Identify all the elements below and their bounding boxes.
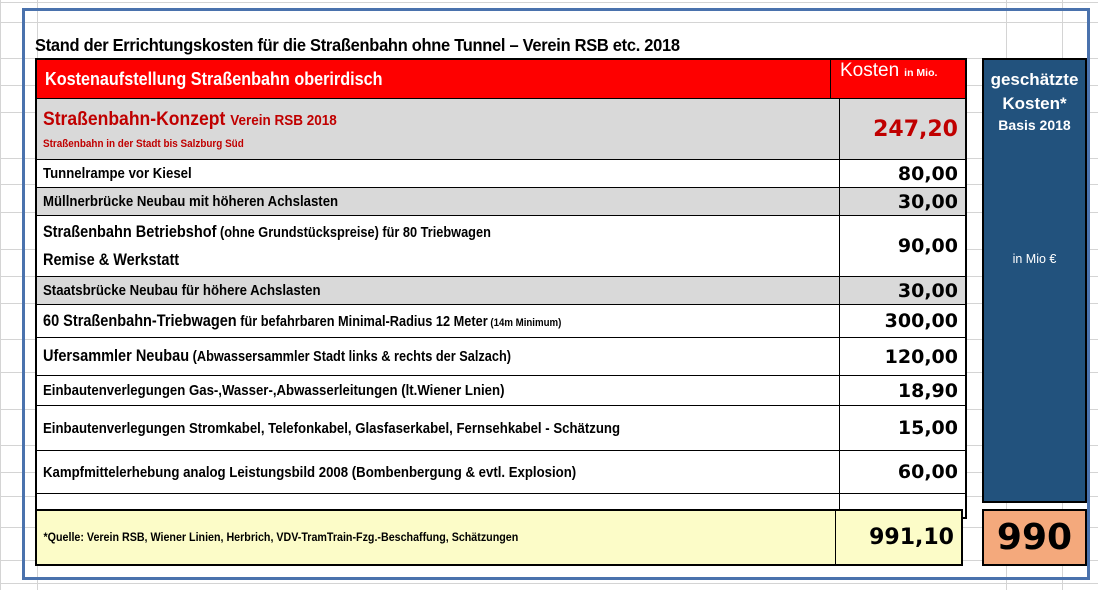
grand-total-value: 991,10: [835, 511, 961, 564]
row-label: Staatsbrücke Neubau für höhere Achslaste…: [43, 282, 738, 299]
row-label: Müllnerbrücke Neubau mit höheren Achslas…: [43, 193, 738, 210]
row-label-cell: Straßenbahn Betriebshof (ohne Grundstück…: [37, 216, 839, 276]
row-label-cell: Tunnelrampe vor Kiesel: [37, 160, 839, 187]
row-label-primary: Einbautenverlegungen Stromkabel, Telefon…: [43, 420, 620, 437]
table-row: Müllnerbrücke Neubau mit höheren Achslas…: [37, 188, 965, 216]
row-value: 90,00: [839, 216, 965, 276]
row-label-note: (Abwassersammler Stadt links & rechts de…: [189, 349, 511, 365]
row-label-primary: Müllnerbrücke Neubau mit höheren Achslas…: [43, 193, 338, 210]
table-row: Kampfmittelerhebung analog Leistungsbild…: [37, 451, 965, 494]
table-row: 60 Straßenbahn-Triebwagen für befahrbare…: [37, 305, 965, 338]
concept-title-main: Straßenbahn-Konzept: [43, 108, 225, 130]
row-value: 30,00: [839, 277, 965, 304]
window-frame-left: [22, 8, 25, 580]
row-label-cell: Müllnerbrücke Neubau mit höheren Achslas…: [37, 188, 839, 215]
row-label: Ufersammler Neubau (Abwassersammler Stad…: [43, 347, 738, 366]
row-label: Einbautenverlegungen Stromkabel, Telefon…: [43, 420, 738, 437]
row-label-primary: Kampfmittelerhebung analog Leistungsbild…: [43, 464, 576, 481]
row-label: Kampfmittelerhebung analog Leistungsbild…: [43, 464, 738, 481]
table-row: Ufersammler Neubau (Abwassersammler Stad…: [37, 338, 965, 376]
row-value: 60,00: [839, 451, 965, 493]
row-label-note: (ohne Grundstückspreise) für 80 Triebwag…: [216, 225, 490, 241]
row-label-primary: Einbautenverlegungen Gas-,Wasser-,Abwass…: [43, 382, 504, 399]
row-label-cell: Einbautenverlegungen Stromkabel, Telefon…: [37, 406, 839, 450]
row-value: 30,00: [839, 188, 965, 215]
header-label-cell: Kostenaufstellung Straßenbahn oberirdisc…: [37, 60, 830, 98]
concept-label-cell: Straßenbahn-Konzept Verein RSB 2018 Stra…: [37, 99, 839, 159]
window-frame-right: [1087, 8, 1090, 580]
table-row: Einbautenverlegungen Gas-,Wasser-,Abwass…: [37, 376, 965, 406]
row-label: Tunnelrampe vor Kiesel: [43, 165, 738, 182]
row-value: 80,00: [839, 160, 965, 187]
table-row-concept: Straßenbahn-Konzept Verein RSB 2018 Stra…: [37, 99, 965, 160]
row-label: Straßenbahn Betriebshof (ohne Grundstück…: [43, 223, 738, 242]
cost-sheet: Stand der Errichtungskosten für die Stra…: [27, 12, 1087, 577]
window-frame-top: [22, 8, 1090, 11]
table-row: Staatsbrücke Neubau für höhere Achslaste…: [37, 277, 965, 305]
row-value: 300,00: [839, 305, 965, 337]
row-label-primary: Staatsbrücke Neubau für höhere Achslaste…: [43, 282, 321, 299]
table-row: Tunnelrampe vor Kiesel80,00: [37, 160, 965, 188]
concept-subtitle: Straßenbahn in der Stadt bis Salzburg Sü…: [43, 138, 754, 150]
row-label-note2: (14m Minimum): [488, 317, 562, 329]
table-header-row: Kostenaufstellung Straßenbahn oberirdisc…: [37, 60, 965, 99]
estimate-panel-line3: Basis 2018: [984, 117, 1085, 133]
row-label-second-line: Remise & Werkstatt: [43, 251, 738, 270]
estimate-panel-unit: in Mio €: [984, 252, 1085, 266]
header-cost-main: Kosten: [840, 60, 899, 82]
row-value: 15,00: [839, 406, 965, 450]
concept-value: 247,20: [839, 99, 965, 159]
row-label-cell: Einbautenverlegungen Gas-,Wasser-,Abwass…: [37, 376, 839, 405]
row-label-note: für befahrbaren Minimal-Radius 12 Meter: [237, 314, 488, 330]
header-title: Kostenaufstellung Straßenbahn oberirdisc…: [45, 69, 746, 90]
concept-title-sub: Verein RSB 2018: [230, 112, 337, 129]
table-row: Straßenbahn Betriebshof (ohne Grundstück…: [37, 216, 965, 277]
page-title: Stand der Errichtungskosten für die Stra…: [35, 32, 881, 58]
row-label-cell: Kampfmittelerhebung analog Leistungsbild…: [37, 451, 839, 493]
estimate-panel-line1: geschätzte: [984, 69, 1085, 91]
concept-title: Straßenbahn-Konzept Verein RSB 2018: [43, 108, 754, 131]
footer-total-row: *Quelle: Verein RSB, Wiener Linien, Herb…: [35, 509, 963, 566]
row-label-primary: Tunnelrampe vor Kiesel: [43, 165, 192, 182]
cost-table: Kostenaufstellung Straßenbahn oberirdisc…: [35, 58, 967, 519]
row-value: 120,00: [839, 338, 965, 375]
estimate-total-box: 990: [982, 509, 1087, 566]
estimate-panel: geschätzte Kosten* Basis 2018 in Mio €: [982, 58, 1087, 503]
header-cost-cell: Kosten in Mio.: [830, 60, 965, 98]
row-label-cell: Staatsbrücke Neubau für höhere Achslaste…: [37, 277, 839, 304]
estimate-panel-line2: Kosten*: [984, 93, 1085, 115]
row-label-primary: Straßenbahn Betriebshof: [43, 223, 216, 241]
source-note: *Quelle: Verein RSB, Wiener Linien, Herb…: [37, 511, 779, 564]
row-label-primary: 60 Straßenbahn-Triebwagen: [43, 312, 237, 330]
row-label-cell: 60 Straßenbahn-Triebwagen für befahrbare…: [37, 305, 839, 337]
row-label: 60 Straßenbahn-Triebwagen für befahrbare…: [43, 312, 738, 331]
table-row: Einbautenverlegungen Stromkabel, Telefon…: [37, 406, 965, 451]
row-label-primary: Ufersammler Neubau: [43, 347, 189, 365]
row-value: 18,90: [839, 376, 965, 405]
header-cost-sub: in Mio.: [904, 67, 937, 79]
table-body: Tunnelrampe vor Kiesel80,00Müllnerbrücke…: [37, 160, 965, 517]
row-label-cell: Ufersammler Neubau (Abwassersammler Stad…: [37, 338, 839, 375]
row-label: Einbautenverlegungen Gas-,Wasser-,Abwass…: [43, 382, 738, 399]
window-frame-bottom: [22, 577, 1090, 580]
